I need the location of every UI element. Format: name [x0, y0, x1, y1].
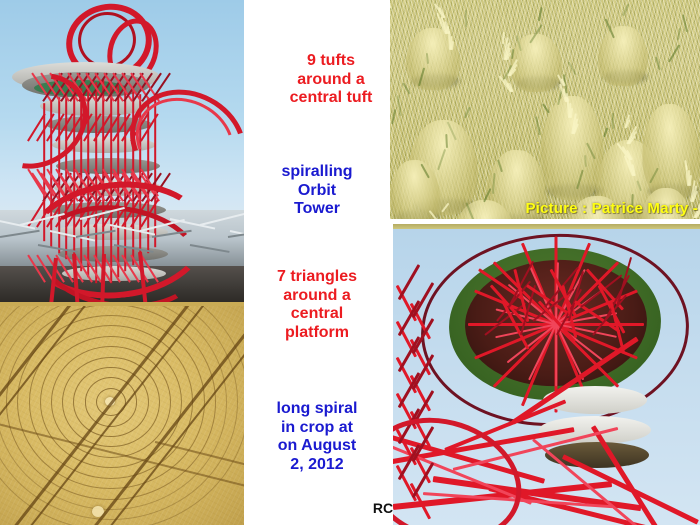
caption-long-spiral: long spiral in crop at on August 2, 2012 — [244, 400, 390, 474]
green-blade — [612, 113, 614, 129]
picture-credit-text: Picture : Patrice Marty - — [525, 200, 698, 217]
orbit-tower-photo — [0, 0, 244, 306]
tower-underside-photo — [393, 224, 700, 525]
barley-field-photo: Picture : Patrice Marty - — [390, 0, 700, 219]
crop-circle-photo — [0, 306, 244, 525]
left-lattice — [398, 264, 421, 300]
caption-tufts: 9 tufts around a central tuft — [240, 52, 404, 108]
slide-canvas: Picture : Patrice Marty - 9 tufts around… — [0, 0, 700, 525]
caption-column: 9 tufts around a central tuft spiralling… — [244, 0, 390, 525]
caption-spiralling: spiralling Orbit Tower — [244, 163, 390, 219]
caption-triangles: 7 triangles around a central platform — [244, 268, 390, 342]
signature-initials: RC — [244, 500, 456, 516]
field-strip — [393, 224, 700, 229]
green-blade — [465, 10, 467, 27]
